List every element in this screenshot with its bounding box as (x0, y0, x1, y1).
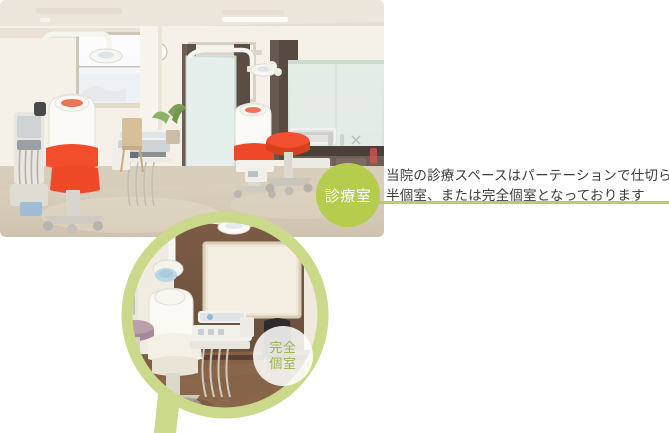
badge-private-room-line-2: 個室 (269, 356, 296, 372)
caption-underline-rule (378, 201, 669, 204)
badge-private-room: 完全 個室 (253, 326, 313, 386)
badge-treatment-room-label: 診療室 (325, 185, 372, 206)
page-root: 当院の診療スペースはパーテーションで仕切られ 半個室、または完全個室となっており… (0, 0, 669, 433)
caption-line-1: 当院の診療スペースはパーテーションで仕切られ (386, 166, 669, 186)
badge-treatment-room: 診療室 (316, 163, 380, 227)
caption-block: 当院の診療スペースはパーテーションで仕切られ 半個室、または完全個室となっており… (386, 166, 669, 206)
badge-private-room-line-1: 完全 (269, 340, 296, 356)
inset-private-room-magnifier (112, 205, 340, 433)
inset-photo-illustration (112, 205, 340, 433)
